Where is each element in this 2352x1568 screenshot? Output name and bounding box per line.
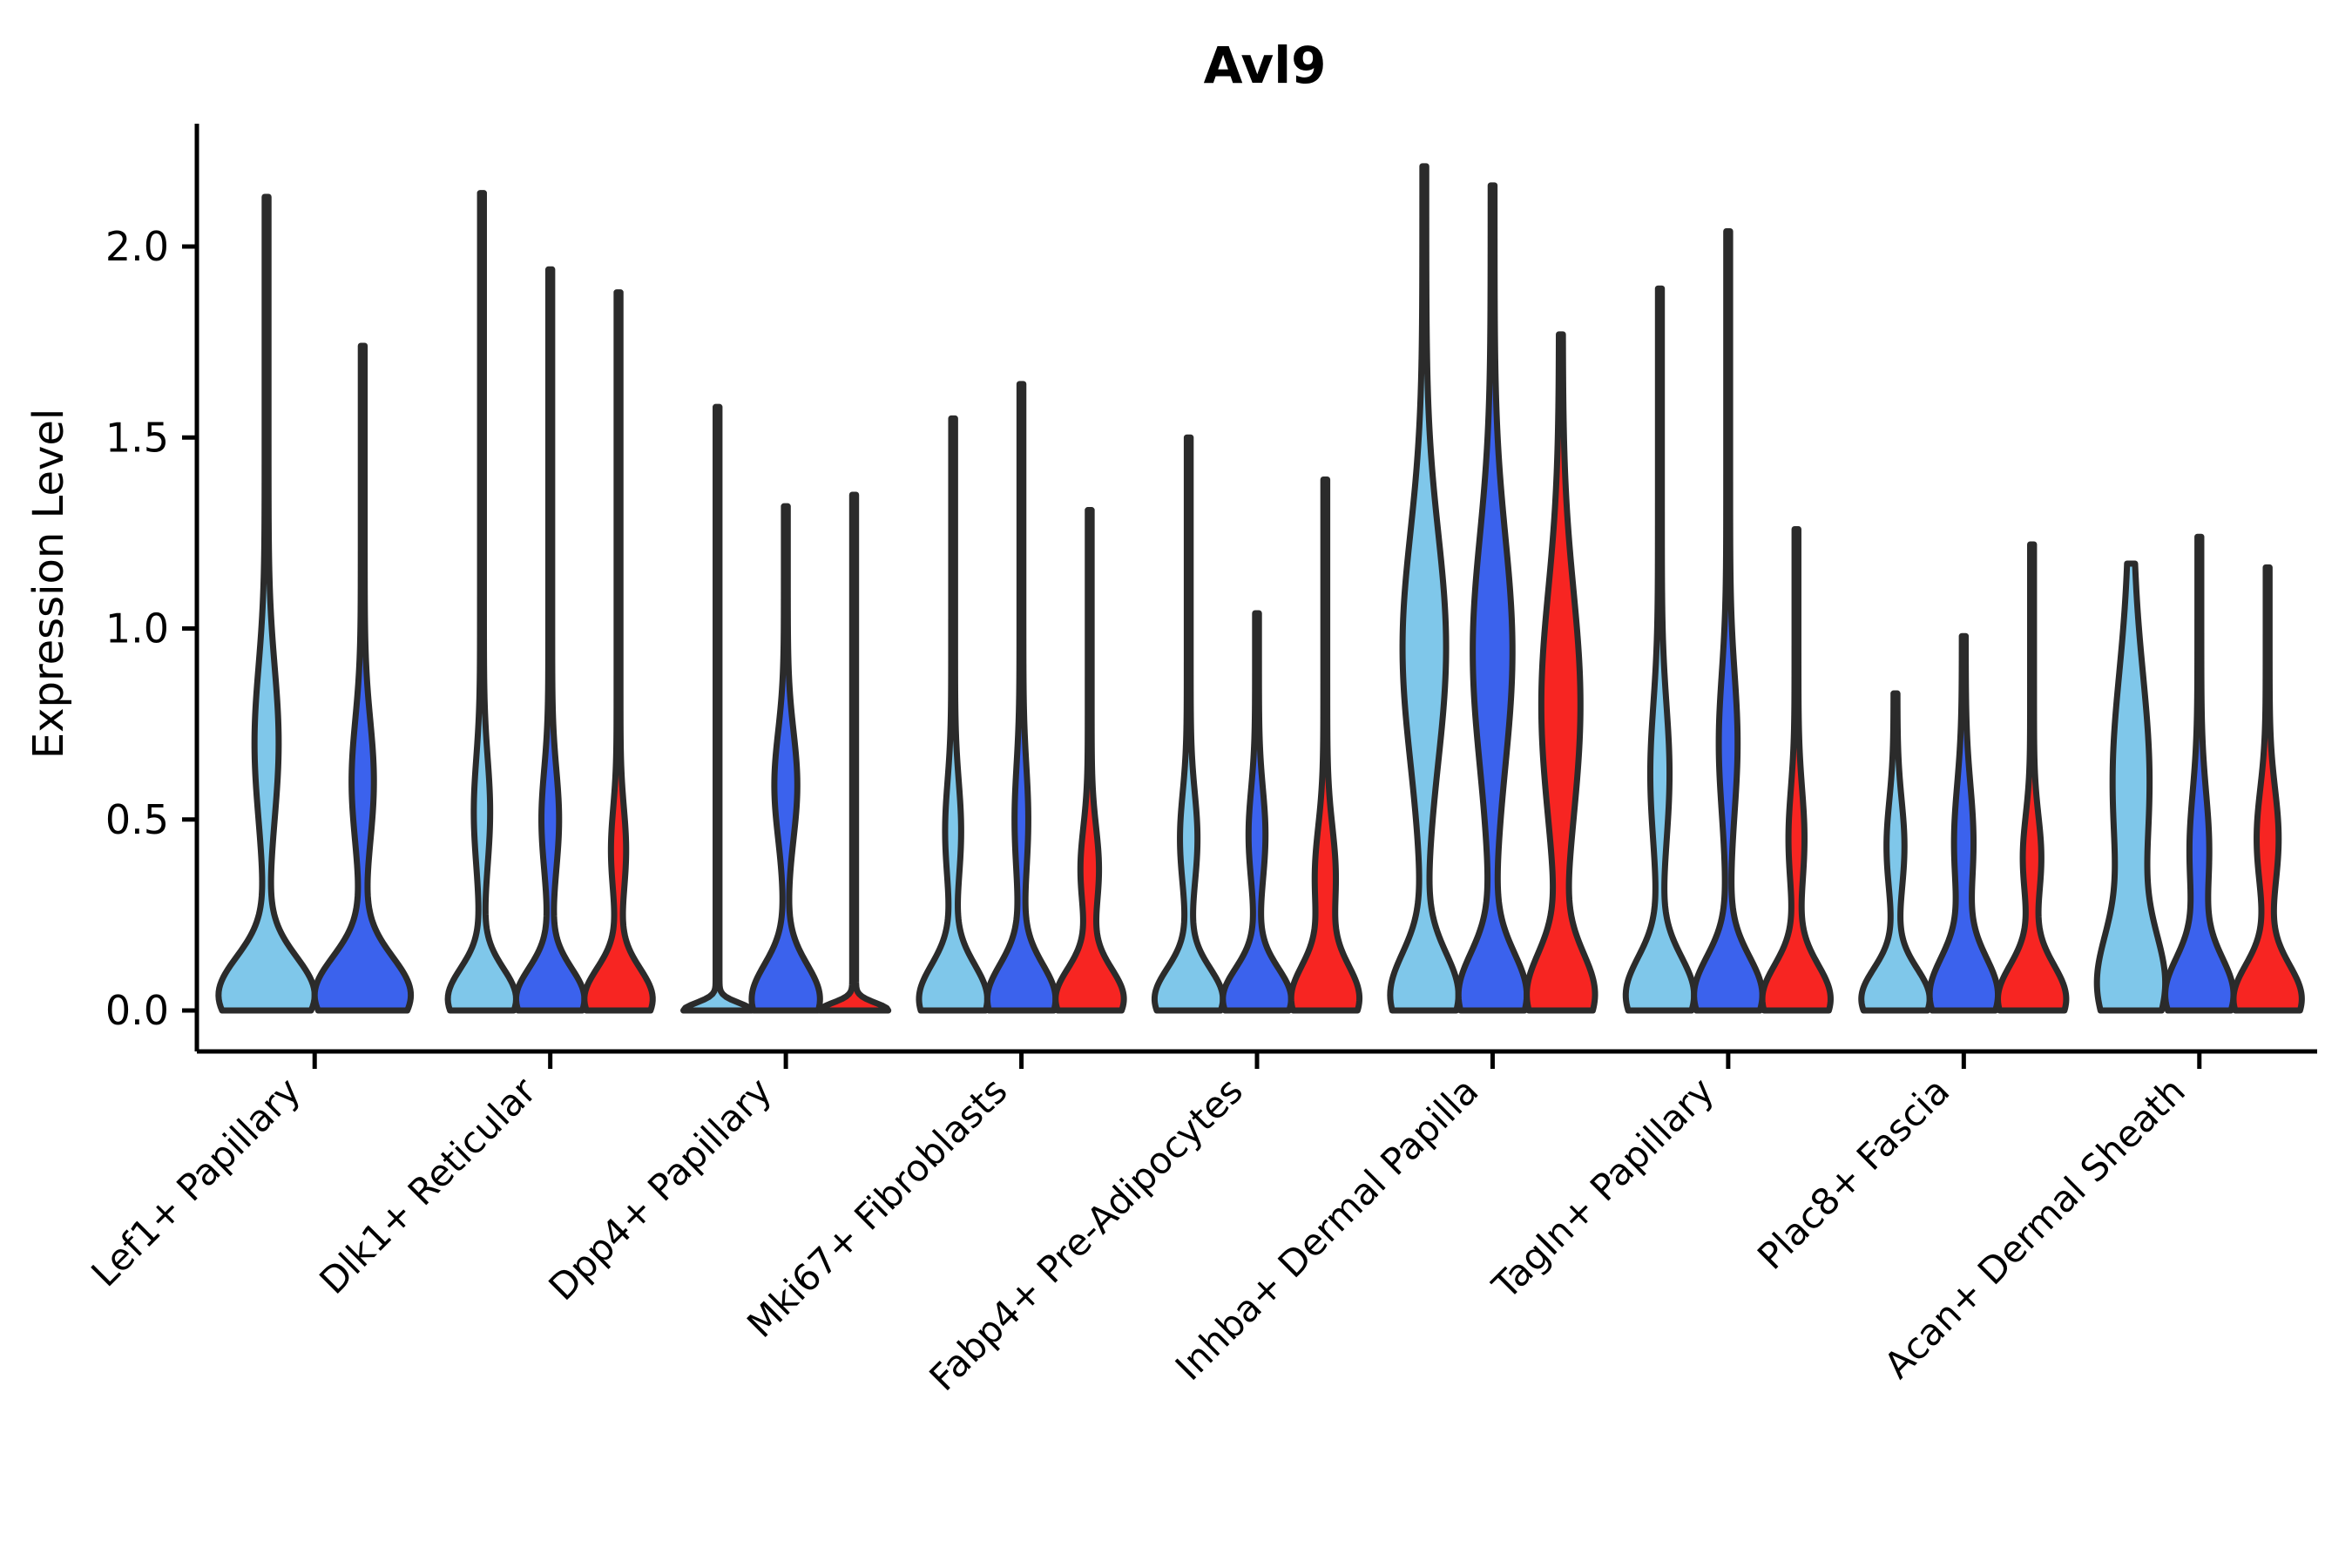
violin-shape[interactable] bbox=[752, 506, 820, 1010]
y-tick-label: 1.0 bbox=[105, 605, 169, 652]
violin-shape[interactable] bbox=[1154, 437, 1222, 1010]
violin-shape[interactable] bbox=[2097, 564, 2165, 1010]
violin-shape[interactable] bbox=[2234, 567, 2301, 1010]
violin-group bbox=[919, 384, 1124, 1010]
plot-canvas: Avl9 0.00.51.01.52.0 Lef1+ PapillaryDlk1… bbox=[0, 0, 2352, 1568]
violin-shape[interactable] bbox=[1930, 636, 1997, 1010]
violin-shape[interactable] bbox=[1625, 288, 1693, 1010]
violin-shape[interactable] bbox=[585, 293, 652, 1010]
violin-shape[interactable] bbox=[1862, 693, 1930, 1010]
violin-layer bbox=[219, 166, 2302, 1010]
x-tick-label: Mki67+ Fibroblasts bbox=[739, 1069, 1015, 1345]
violin-group bbox=[1390, 166, 1595, 1010]
y-tick-label-layer: 0.00.51.01.52.0 bbox=[105, 223, 169, 1034]
violin-shape[interactable] bbox=[919, 418, 987, 1010]
violin-shape[interactable] bbox=[1390, 166, 1458, 1010]
violin-group bbox=[219, 197, 411, 1010]
x-tick-label: Dpp4+ Papillary bbox=[540, 1069, 780, 1308]
page-title: Avl9 bbox=[1204, 36, 1327, 95]
y-tick-label: 1.5 bbox=[105, 414, 169, 461]
chart-title-group: Avl9 bbox=[1204, 36, 1327, 95]
violin-shape[interactable] bbox=[448, 193, 516, 1010]
violin-group bbox=[684, 407, 889, 1010]
y-tick-label: 0.5 bbox=[105, 796, 169, 843]
violin-shape[interactable] bbox=[1527, 335, 1595, 1010]
violin-shape[interactable] bbox=[516, 269, 584, 1010]
violin-shape[interactable] bbox=[1998, 544, 2066, 1010]
violin-group bbox=[2097, 537, 2301, 1010]
y-tick-label: 2.0 bbox=[105, 223, 169, 270]
violin-shape[interactable] bbox=[1291, 479, 1359, 1010]
violin-shape[interactable] bbox=[1223, 613, 1291, 1010]
x-tick-label-layer: Lef1+ PapillaryDlk1+ ReticularDpp4+ Papi… bbox=[83, 1069, 2193, 1399]
x-tick-label: Plac8+ Fascia bbox=[1749, 1069, 1957, 1277]
violin-group bbox=[1154, 437, 1359, 1010]
violin-plot-figure: Avl9 0.00.51.01.52.0 Lef1+ PapillaryDlk1… bbox=[0, 0, 2352, 1568]
violin-group bbox=[1862, 544, 2066, 1010]
violin-shape[interactable] bbox=[314, 346, 410, 1010]
violin-shape[interactable] bbox=[987, 384, 1055, 1010]
x-tick-label: TagIn+ Papillary bbox=[1484, 1069, 1722, 1308]
violin-shape[interactable] bbox=[2166, 537, 2234, 1010]
y-tick-label: 0.0 bbox=[105, 987, 169, 1034]
violin-shape[interactable] bbox=[684, 407, 752, 1010]
violin-group bbox=[448, 193, 652, 1010]
y-axis-label: Expression Level bbox=[24, 409, 73, 760]
violin-shape[interactable] bbox=[1694, 231, 1762, 1010]
violin-shape[interactable] bbox=[1762, 529, 1830, 1010]
violin-group bbox=[1625, 231, 1830, 1010]
x-tick-label: Dlk1+ Reticular bbox=[311, 1069, 544, 1302]
violin-shape[interactable] bbox=[1056, 510, 1124, 1010]
violin-shape[interactable] bbox=[1458, 186, 1526, 1010]
y-axis-label-group: Expression Level bbox=[24, 409, 73, 760]
violin-shape[interactable] bbox=[820, 495, 888, 1010]
violin-shape[interactable] bbox=[219, 197, 314, 1010]
x-tick-label: Lef1+ Papillary bbox=[83, 1069, 308, 1294]
